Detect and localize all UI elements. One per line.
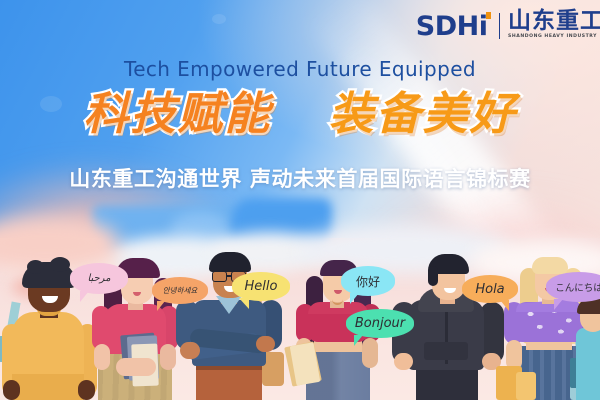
sdhi-logo[interactable]: SDHi 山东重工 SHANDONG HEAVY INDUSTRY <box>416 10 600 40</box>
logo-chinese-name: 山东重工 <box>508 10 600 33</box>
logo-accent-dot <box>486 12 491 19</box>
subtitle-chinese: 山东重工沟通世界 声动未来首届国际语言锦标赛 <box>0 163 600 193</box>
logo-wordmark: SDHi <box>416 13 491 40</box>
logo-divider <box>499 13 501 39</box>
speech-bubble-french: Bonjour <box>346 309 414 338</box>
speech-bubble-japanese: こんにちは <box>546 272 600 302</box>
logo-chinese-block: 山东重工 SHANDONG HEAVY INDUSTRY <box>508 10 600 40</box>
speech-bubble-korean: 안녕하세요 <box>152 277 208 304</box>
speech-bubble-spanish: Hola <box>462 275 518 303</box>
headline-chinese: 科技赋能 装备美好 <box>0 90 600 139</box>
headline-chinese-part2: 装备美好 <box>329 87 517 140</box>
speech-bubble-arabic: مرحبا <box>70 263 128 294</box>
promo-banner: SDHi 山东重工 SHANDONG HEAVY INDUSTRY Tech E… <box>0 0 600 400</box>
headline-chinese-part1: 科技赋能 <box>83 87 271 140</box>
cloud-speck-b <box>212 14 226 24</box>
speech-bubble-english: Hello <box>232 272 290 301</box>
logo-chinese-subname: SHANDONG HEAVY INDUSTRY <box>508 35 600 40</box>
person-7-partial-right <box>576 304 600 400</box>
headline-english: Tech Empowered Future Equipped <box>0 57 600 81</box>
speech-bubble-chinese: 你好 <box>341 266 395 296</box>
